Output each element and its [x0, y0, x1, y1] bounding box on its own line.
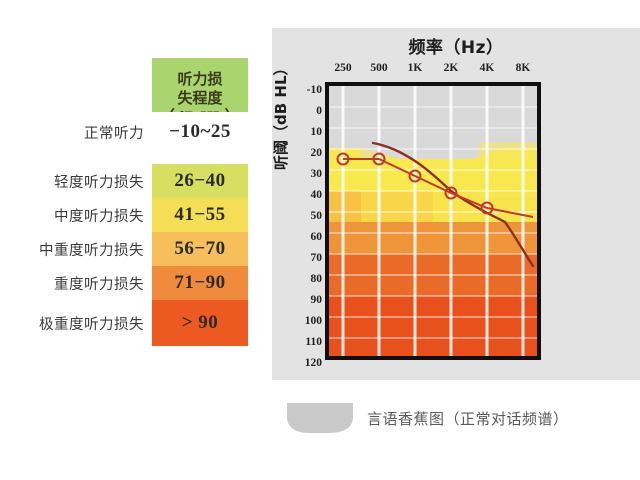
severity-range: 71−90 [152, 266, 248, 300]
y-tick-label: 20 [311, 147, 323, 159]
y-tick-label: 80 [311, 273, 323, 285]
y-axis-tick-labels: -10 0 10 20 30 40 50 60 70 80 90 100 110… [288, 84, 322, 356]
chart-title: 频率（Hz） [272, 33, 640, 58]
y-tick-label: 10 [311, 126, 323, 138]
y-tick-label: 60 [311, 231, 323, 243]
table-row: 正常听力 −10~25 [0, 112, 266, 152]
x-tick-label: 2K [444, 62, 459, 74]
hearing-loss-severity-table: 听力损 失程度 （dB HL） 正常听力 −10~25 轻度听力损失 26−40… [0, 28, 266, 380]
y-tick-label: 90 [311, 294, 323, 306]
severity-label: 重度听力损失 [0, 273, 152, 294]
severity-range: 56−70 [152, 232, 248, 266]
x-tick-label: 1K [408, 62, 423, 74]
x-tick-label: 4K [480, 62, 495, 74]
x-tick-label: 8K [516, 62, 531, 74]
table-row: 中重度听力损失 56−70 [0, 232, 266, 266]
header-line-1: 听力损 [177, 70, 222, 89]
y-tick-label: 120 [305, 357, 322, 369]
y-tick-label: 70 [311, 252, 323, 264]
severity-range: −10~25 [152, 112, 248, 152]
y-tick-label: 100 [305, 315, 322, 327]
table-row: 极重度听力损失 > 90 [0, 300, 266, 346]
y-tick-label: 40 [311, 189, 323, 201]
caption-text: 言语香蕉图（正常对话频谱） [367, 408, 569, 429]
x-axis-tick-labels: 250 500 1K 2K 4K 8K [325, 62, 540, 78]
severity-label: 中度听力损失 [0, 205, 152, 226]
severity-label: 极重度听力损失 [0, 313, 152, 334]
chart-caption: 言语香蕉图（正常对话频谱） [285, 398, 640, 438]
band-profound [329, 296, 537, 356]
severity-range: 41−55 [152, 198, 248, 232]
severity-label: 轻度听力损失 [0, 171, 152, 192]
band-mod-severe [329, 222, 537, 254]
x-tick-label: 500 [370, 62, 387, 74]
x-tick-label: 250 [334, 62, 351, 74]
y-tick-label: 110 [305, 336, 322, 348]
y-tick-label: 0 [316, 105, 322, 117]
y-tick-label: 30 [311, 168, 323, 180]
severity-range: 26−40 [152, 164, 248, 198]
table-row: 轻度听力损失 26−40 [0, 164, 266, 198]
table-row: 中度听力损失 41−55 [0, 198, 266, 232]
severity-label: 正常听力 [0, 122, 152, 143]
audiogram-plot-svg [329, 86, 537, 356]
header-line-2: 失程度 [177, 89, 222, 108]
banana-shape-icon [285, 401, 355, 435]
y-tick-label: 50 [311, 210, 323, 222]
table-row: 重度听力损失 71−90 [0, 266, 266, 300]
severity-label: 中重度听力损失 [0, 239, 152, 260]
severity-range: > 90 [152, 300, 248, 346]
y-tick-label: -10 [307, 84, 322, 96]
audiogram-plot-area [325, 82, 541, 360]
